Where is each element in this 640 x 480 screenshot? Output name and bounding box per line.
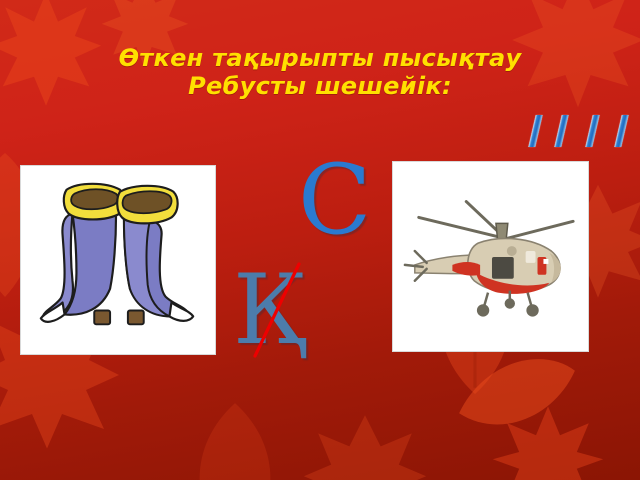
boots-illustration — [21, 166, 215, 354]
slide-title: Өткен тақырыпты пысықтау Ребусты шешейік… — [0, 44, 640, 101]
apostrophe-icon — [614, 115, 628, 147]
helicopter-illustration — [393, 162, 588, 351]
leaf-icon — [180, 400, 290, 480]
boots-picture — [20, 165, 216, 355]
rebus-letter-q-group: Қ — [233, 262, 325, 358]
slide-canvas: Өткен тақырыпты пысықтау Ребусты шешейік… — [0, 0, 640, 480]
apostrophe-icon — [528, 115, 542, 147]
rebus-letter-s: С — [298, 152, 371, 248]
apostrophe-marks-group — [530, 115, 640, 155]
apostrophe-icon — [554, 115, 568, 147]
rebus-letter-q: Қ — [233, 262, 307, 358]
leaf-icon — [452, 340, 582, 450]
title-line-2: Ребусты шешейік: — [0, 72, 640, 100]
maple-leaf-icon — [300, 410, 430, 480]
apostrophe-icon — [585, 115, 599, 147]
helicopter-picture — [392, 161, 589, 352]
title-line-1: Өткен тақырыпты пысықтау — [0, 44, 640, 72]
maple-leaf-icon — [488, 404, 608, 480]
